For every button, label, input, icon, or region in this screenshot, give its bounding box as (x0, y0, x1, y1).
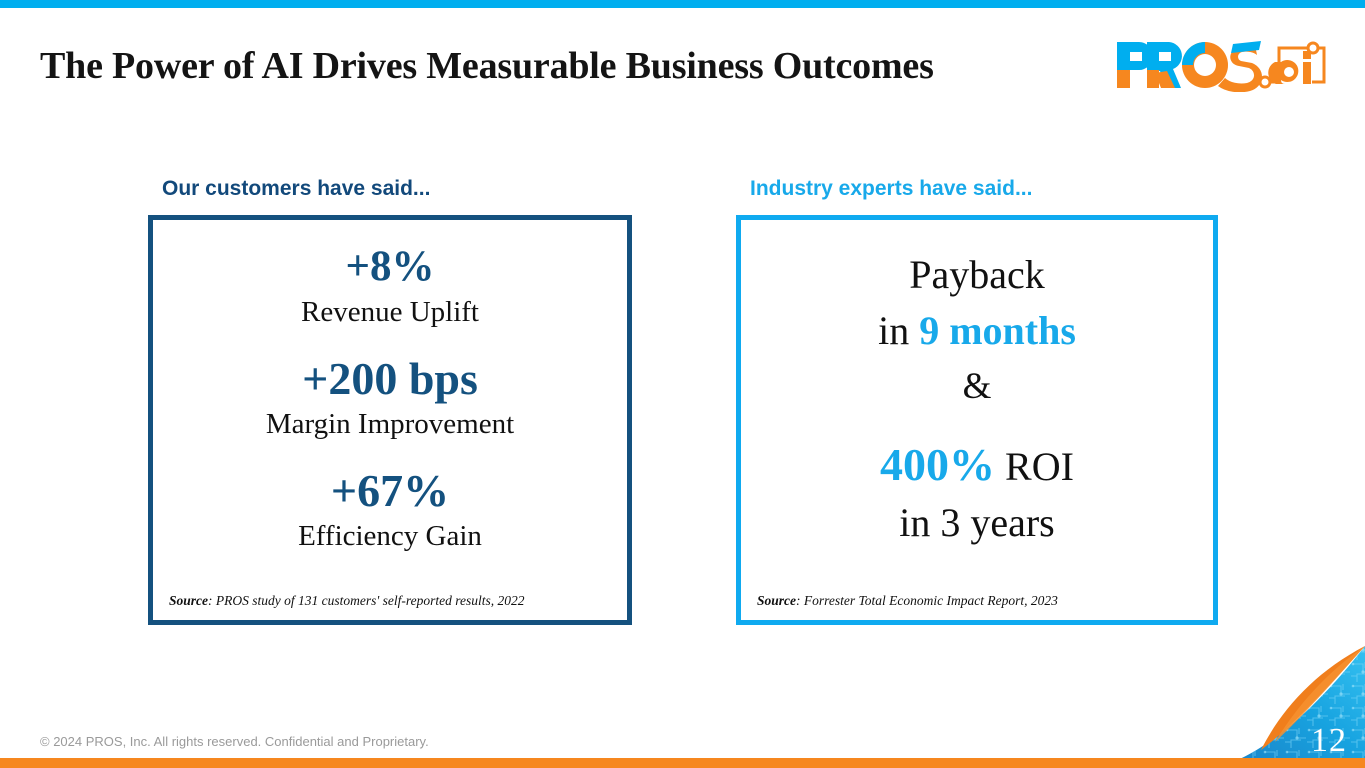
right-panel-heading: Industry experts have said... (750, 176, 1218, 202)
line-plain: in 3 years (899, 500, 1055, 545)
source-text: : Forrester Total Economic Impact Report… (796, 593, 1058, 608)
source-label: Source (757, 593, 796, 608)
top-accent-bar (0, 0, 1365, 8)
line-highlight: 400% (880, 439, 995, 490)
left-panel-heading: Our customers have said... (162, 176, 632, 202)
line-plain: Payback (909, 252, 1045, 297)
stat-label: Revenue Uplift (169, 292, 611, 332)
industry-experts-body: Payback in 9 months & 400% ROI in 3 year… (757, 234, 1197, 592)
stat-revenue-uplift: +8% Revenue Uplift (169, 242, 611, 332)
stat-value: +67% (169, 466, 611, 516)
stat-label: Margin Improvement (169, 404, 611, 444)
industry-experts-card: Payback in 9 months & 400% ROI in 3 year… (736, 215, 1218, 625)
source-label: Source (169, 593, 208, 608)
line-highlight: 9 months (919, 308, 1076, 353)
left-source-note: Source: PROS study of 131 customers' sel… (169, 592, 611, 614)
expert-line-payback: Payback (757, 248, 1197, 302)
pros-ai-logo (1113, 38, 1328, 92)
stat-value: +8% (169, 242, 611, 292)
expert-line-months: in 9 months (757, 304, 1197, 358)
stat-efficiency-gain: +67% Efficiency Gain (169, 466, 611, 556)
expert-line-years: in 3 years (757, 496, 1197, 550)
corner-decoration: 12 (1175, 638, 1365, 768)
stat-margin-improvement: +200 bps Margin Improvement (169, 354, 611, 444)
line-tail: ROI (995, 444, 1074, 489)
page-title: The Power of AI Drives Measurable Busine… (40, 44, 934, 88)
left-panel: Our customers have said... +8% Revenue U… (148, 176, 632, 625)
customer-results-body: +8% Revenue Uplift +200 bps Margin Impro… (169, 234, 611, 592)
page-number: 12 (1311, 724, 1347, 758)
line-plain: & (963, 366, 992, 407)
slide-canvas: The Power of AI Drives Measurable Busine… (0, 0, 1365, 768)
source-text: : PROS study of 131 customers' self-repo… (208, 593, 524, 608)
expert-line-ampersand: & (757, 360, 1197, 414)
line-plain: in (878, 308, 919, 353)
copyright-footer: © 2024 PROS, Inc. All rights reserved. C… (40, 734, 429, 749)
right-panel: Industry experts have said... Payback in… (736, 176, 1218, 625)
expert-line-roi: 400% ROI (757, 438, 1197, 494)
right-source-note: Source: Forrester Total Economic Impact … (757, 592, 1197, 614)
stat-label: Efficiency Gain (169, 516, 611, 556)
customer-results-card: +8% Revenue Uplift +200 bps Margin Impro… (148, 215, 632, 625)
bottom-accent-bar (0, 758, 1365, 768)
stat-value: +200 bps (169, 354, 611, 404)
